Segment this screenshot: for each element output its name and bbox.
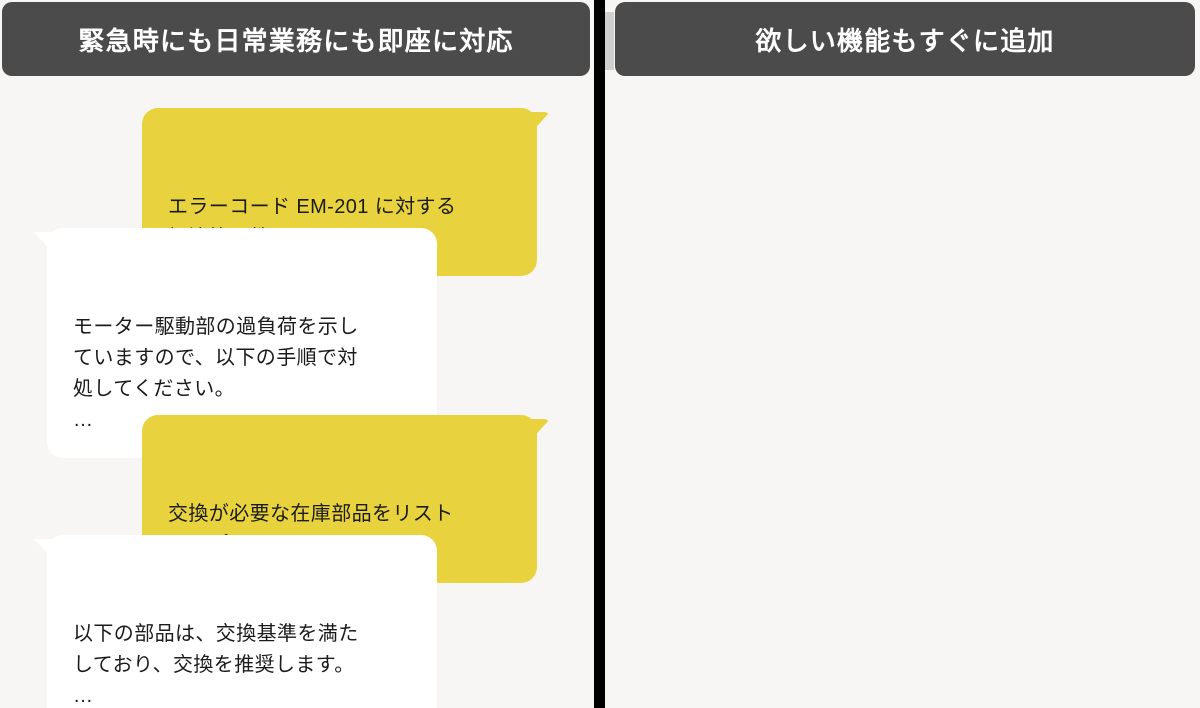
right-panel-header: 欲しい機能もすぐに追加 [615,2,1195,76]
right-header-title: 欲しい機能もすぐに追加 [755,21,1054,58]
bubble-tail-icon [34,232,54,254]
header-rail [605,12,614,70]
chat-bubble-text: モーター駆動部の過負荷を示し ていますので、以下の手順で対 処してください。 … [73,316,359,431]
left-panel-header: 緊急時にも日常業務にも即座に対応 [2,2,590,76]
panel-divider [594,0,605,708]
right-panel: 欲しい機能もすぐに追加 商品ごとの在庫予測を棒グラフで 作成してください 実出荷… [605,0,1200,708]
chat-bubble-text: 以下の部品は、交換基準を満た しており、交換を推奨します。 … [73,623,359,707]
left-header-title: 緊急時にも日常業務にも即座に対応 [78,21,513,58]
left-panel: 緊急時にも日常業務にも即座に対応 エラーコード EM-201 に対する 解決策を… [0,0,594,708]
bubble-tail-icon [34,539,54,561]
bubble-tail-icon [530,419,550,441]
bubble-tail-icon [530,112,550,134]
chat-bubble-bot[interactable]: 以下の部品は、交換基準を満た しており、交換を推奨します。 … [47,535,437,708]
screenshot-stage: 緊急時にも日常業務にも即座に対応 エラーコード EM-201 に対する 解決策を… [0,0,1200,708]
